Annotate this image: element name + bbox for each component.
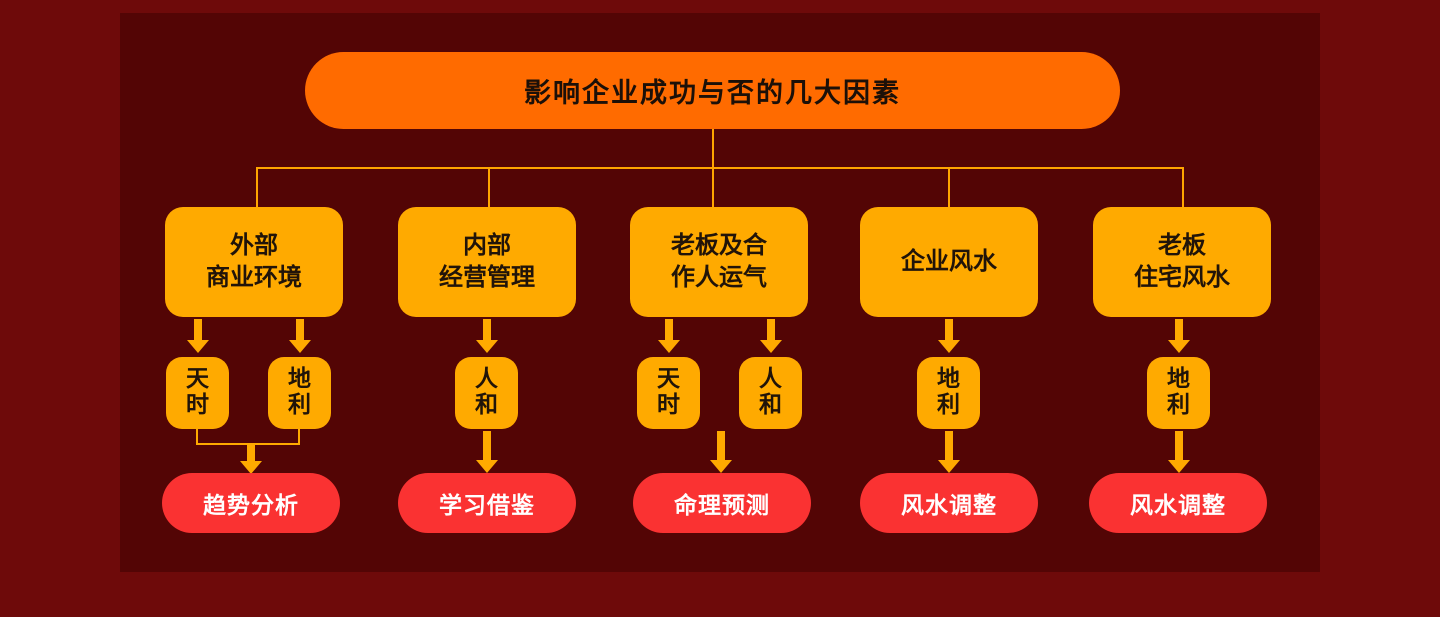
result-label: 命理预测 [674, 486, 770, 520]
chip-char: 地 [937, 367, 960, 393]
arrow-down-icon [658, 319, 680, 353]
chip-char: 地 [1167, 367, 1190, 393]
factor-node-internal[interactable]: 内部 经营管理 [398, 207, 576, 317]
chip-char: 人 [759, 367, 782, 393]
chip-node-dili-3[interactable]: 地 利 [1147, 357, 1210, 429]
chip-char: 时 [186, 393, 209, 419]
factor-label-line: 作人运气 [671, 262, 767, 294]
chip-node-dili-2[interactable]: 地 利 [917, 357, 980, 429]
merge-stem-left [196, 429, 198, 443]
factor-node-home-fengshui[interactable]: 老板 住宅风水 [1093, 207, 1271, 317]
chip-char: 天 [657, 367, 680, 393]
result-node-learning[interactable]: 学习借鉴 [398, 473, 576, 533]
factor-node-boss-luck[interactable]: 老板及合 作人运气 [630, 207, 808, 317]
title-label: 影响企业成功与否的几大因素 [524, 71, 901, 110]
chip-char: 天 [186, 367, 209, 393]
chip-char: 人 [475, 367, 498, 393]
chip-node-renhe-1[interactable]: 人 和 [455, 357, 518, 429]
arrow-down-icon [476, 431, 498, 473]
chip-char: 和 [759, 393, 782, 419]
arrow-down-icon [710, 431, 732, 473]
chip-char: 利 [1167, 393, 1190, 419]
branch-connector-3 [712, 167, 714, 207]
arrow-down-icon [187, 319, 209, 353]
chip-node-renhe-2[interactable]: 人 和 [739, 357, 802, 429]
result-label: 学习借鉴 [439, 486, 535, 520]
chip-node-tianshi-2[interactable]: 天 时 [637, 357, 700, 429]
arrow-down-icon [1168, 431, 1190, 473]
arrow-down-icon [1168, 319, 1190, 353]
chip-char: 时 [657, 393, 680, 419]
factor-label-line: 老板及合 [671, 230, 767, 262]
branch-connector-2 [488, 167, 490, 207]
result-label: 趋势分析 [203, 486, 299, 520]
factor-node-external[interactable]: 外部 商业环境 [165, 207, 343, 317]
merge-stem-right [298, 429, 300, 443]
diagram-canvas: 影响企业成功与否的几大因素 外部 商业环境 内部 经营管理 老板及合 作人运气 … [0, 0, 1440, 617]
result-node-fate-prediction[interactable]: 命理预测 [633, 473, 811, 533]
factor-label-line: 企业风水 [901, 246, 997, 278]
factor-label-line: 商业环境 [206, 262, 302, 294]
arrow-down-icon [938, 319, 960, 353]
result-label: 风水调整 [901, 486, 997, 520]
factor-label-line: 外部 [230, 230, 278, 262]
chip-char: 利 [937, 393, 960, 419]
chip-char: 利 [288, 393, 311, 419]
title-node[interactable]: 影响企业成功与否的几大因素 [305, 52, 1120, 129]
arrow-down-icon [938, 431, 960, 473]
result-node-fengshui-adjust-1[interactable]: 风水调整 [860, 473, 1038, 533]
branch-connector-5 [1182, 167, 1184, 207]
arrow-down-icon [240, 443, 262, 473]
factor-label-line: 内部 [463, 230, 511, 262]
chip-char: 地 [288, 367, 311, 393]
chip-node-dili-1[interactable]: 地 利 [268, 357, 331, 429]
branch-connector-1 [256, 167, 258, 207]
factor-node-company-fengshui[interactable]: 企业风水 [860, 207, 1038, 317]
result-label: 风水调整 [1130, 486, 1226, 520]
branch-connector-4 [948, 167, 950, 207]
title-stem-connector [712, 129, 714, 167]
result-node-trend-analysis[interactable]: 趋势分析 [162, 473, 340, 533]
distribution-bus-connector [256, 167, 1184, 169]
result-node-fengshui-adjust-2[interactable]: 风水调整 [1089, 473, 1267, 533]
factor-label-line: 老板 [1158, 230, 1206, 262]
factor-label-line: 经营管理 [439, 262, 535, 294]
chip-char: 和 [475, 393, 498, 419]
factor-label-line: 住宅风水 [1134, 262, 1230, 294]
arrow-down-icon [476, 319, 498, 353]
arrow-down-icon [760, 319, 782, 353]
arrow-down-icon [289, 319, 311, 353]
chip-node-tianshi-1[interactable]: 天 时 [166, 357, 229, 429]
